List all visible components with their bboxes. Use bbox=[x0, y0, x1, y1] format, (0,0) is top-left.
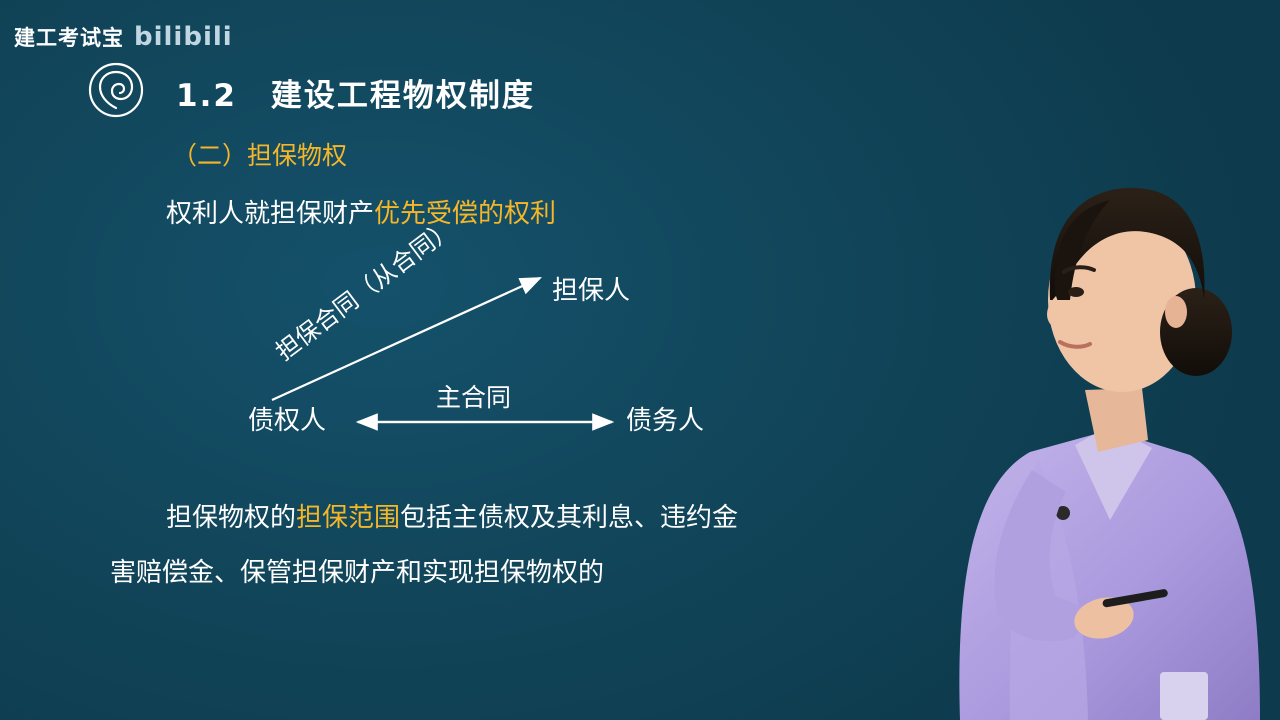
diagram-node-creditor: 债权人 bbox=[248, 400, 326, 437]
slide-line-3: 害赔偿金、保管担保财产和实现担保物权的 bbox=[110, 552, 604, 589]
slide-line-2-highlight: 担保范围 bbox=[296, 503, 400, 533]
slide-line-2-prefix: 担保物权的 bbox=[166, 503, 296, 533]
contract-relationship-diagram: 担保人 债权人 债务人 担保合同（从合同） 主合同 bbox=[240, 250, 780, 460]
slide-subheading: （二）担保物权 bbox=[172, 136, 347, 172]
diagram-node-debtor: 债务人 bbox=[626, 400, 704, 437]
brand-watermark: 建工考试宝 bilibili bbox=[14, 22, 233, 52]
slide-title: 1.2 建设工程物权制度 bbox=[176, 70, 535, 115]
slide-line-1-prefix: 权利人就担保财产 bbox=[166, 199, 374, 229]
slide-line-2-suffix: 包括主债权及其利息、违约金 bbox=[400, 503, 738, 533]
slide-line-1-highlight: 优先受偿的权利 bbox=[374, 199, 556, 229]
diagram-node-guarantor: 担保人 bbox=[552, 270, 630, 307]
diagram-label-main-contract: 主合同 bbox=[436, 378, 511, 414]
bilibili-logo: bilibili bbox=[134, 22, 233, 52]
slide-line-2: 担保物权的担保范围包括主债权及其利息、违约金 bbox=[166, 497, 738, 534]
seal-emblem-icon bbox=[88, 62, 144, 118]
slide-title-number: 1.2 bbox=[176, 78, 237, 114]
slide-title-text: 建设工程物权制度 bbox=[271, 70, 535, 115]
brand-name: 建工考试宝 bbox=[14, 22, 124, 52]
slide-line-1: 权利人就担保财产优先受偿的权利 bbox=[166, 193, 556, 230]
video-frame: 建工考试宝 bilibili 1.2 建设工程物权制度 （二）担保物权 权利人就… bbox=[0, 0, 1280, 720]
